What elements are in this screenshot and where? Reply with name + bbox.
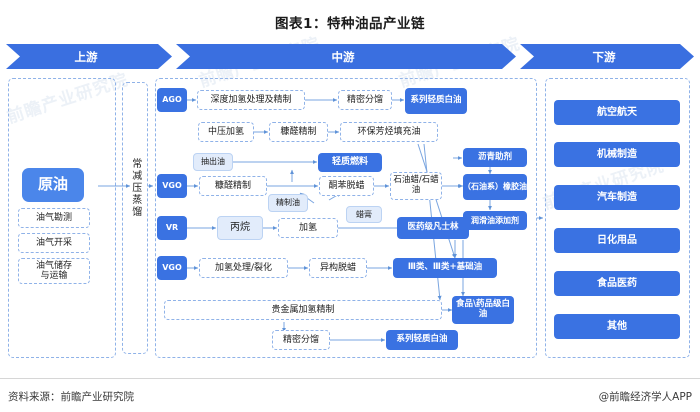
- intermediate-propane[interactable]: 丙烷: [217, 216, 263, 240]
- industry-chain-infographic: 图表1：特种油品产业链 前瞻产业研究院 前瞻产业研究院 前瞻产业研究院 前瞻产业…: [0, 0, 700, 412]
- band-upstream: 上游: [6, 44, 172, 69]
- process-deep-hydro-refining[interactable]: 深度加氢处理及精制: [197, 90, 305, 110]
- feedstock-vgo-2[interactable]: VGO: [157, 256, 187, 280]
- process-ketone-benzene-dewaxing[interactable]: 酮苯脱蜡: [319, 176, 374, 196]
- downstream-aerospace[interactable]: 航空航天: [554, 100, 680, 125]
- upstream-item-exploration[interactable]: 油气勘测: [18, 208, 90, 228]
- product-pharmaceutical-vaseline[interactable]: 医药级凡士林: [397, 217, 469, 239]
- process-isomerization-dewaxing[interactable]: 异构脱蜡: [309, 258, 367, 278]
- upstream-crude-oil[interactable]: 原油: [22, 168, 84, 202]
- product-series-light-white-oil-top[interactable]: 系列轻质白油: [405, 88, 467, 114]
- product-asphalt-additive[interactable]: 沥青助剂: [463, 148, 527, 167]
- feedstock-ago[interactable]: AGO: [157, 88, 187, 112]
- process-precious-metal-hydro-refining[interactable]: 贵金属加氢精制: [164, 300, 442, 320]
- downstream-automotive-manufacturing[interactable]: 汽车制造: [554, 185, 680, 210]
- product-food-pharma-white-oil[interactable]: 食品\药品级白油: [452, 296, 514, 324]
- process-petroleum-wax-paraffin-oil[interactable]: 石油蜡/石蜡油: [390, 172, 442, 200]
- feedstock-vgo-1[interactable]: VGO: [157, 174, 187, 198]
- intermediate-extract-oil[interactable]: 抽出油: [193, 153, 233, 171]
- process-precision-fractionation-bottom[interactable]: 精密分馏: [272, 330, 330, 350]
- downstream-machinery-manufacturing[interactable]: 机械制造: [554, 142, 680, 167]
- distillation-label: 常减压蒸馏: [126, 150, 144, 226]
- footer-divider: [0, 378, 700, 379]
- process-eco-aromatic-extender-oil[interactable]: 环保芳烃填充油: [340, 122, 438, 142]
- process-furfural-refining-mid[interactable]: 糠醛精制: [199, 176, 267, 196]
- product-petroleum-rubber-oil[interactable]: （石油系）橡胶油: [463, 174, 527, 200]
- process-hydrogenation[interactable]: 加氢: [278, 218, 338, 238]
- downstream-daily-chemical-products[interactable]: 日化用品: [554, 228, 680, 253]
- source-text: 资料来源：前瞻产业研究院: [8, 389, 134, 404]
- band-upstream-label: 上游: [75, 49, 98, 65]
- value-chain-band: 上游 中游 下游: [6, 44, 694, 69]
- feedstock-vr[interactable]: VR: [157, 216, 187, 240]
- process-medium-pressure-hydrogenation[interactable]: 中压加氢: [198, 122, 254, 142]
- downstream-other[interactable]: 其他: [554, 314, 680, 339]
- upstream-item-storage-transport[interactable]: 油气储存 与运输: [18, 258, 90, 284]
- process-precision-fractionation-top[interactable]: 精密分馏: [338, 90, 392, 110]
- product-light-fuel[interactable]: 轻质燃料: [318, 153, 382, 172]
- downstream-food-pharmaceutical[interactable]: 食品医药: [554, 271, 680, 296]
- product-series-light-white-oil-bottom[interactable]: 系列轻质白油: [386, 330, 458, 350]
- product-group3-base-oil[interactable]: Ⅲ类、Ⅲ类+基础油: [393, 258, 497, 278]
- band-midstream: 中游: [176, 44, 516, 69]
- page-title: 图表1：特种油品产业链: [0, 12, 700, 32]
- band-midstream-label: 中游: [332, 49, 355, 65]
- band-downstream: 下游: [520, 44, 694, 69]
- process-furfural-refining-top[interactable]: 糠醛精制: [269, 122, 328, 142]
- band-downstream-label: 下游: [593, 49, 616, 65]
- app-attribution: @前瞻经济学人APP: [599, 389, 692, 404]
- product-lubricant-additive[interactable]: 润滑油添加剂: [463, 211, 527, 230]
- upstream-item-extraction[interactable]: 油气开采: [18, 233, 90, 253]
- intermediate-refined-oil[interactable]: 精制油: [268, 194, 308, 212]
- process-hydro-treating-cracking[interactable]: 加氢处理/裂化: [199, 258, 288, 278]
- intermediate-wax-paste[interactable]: 蜡膏: [346, 206, 382, 223]
